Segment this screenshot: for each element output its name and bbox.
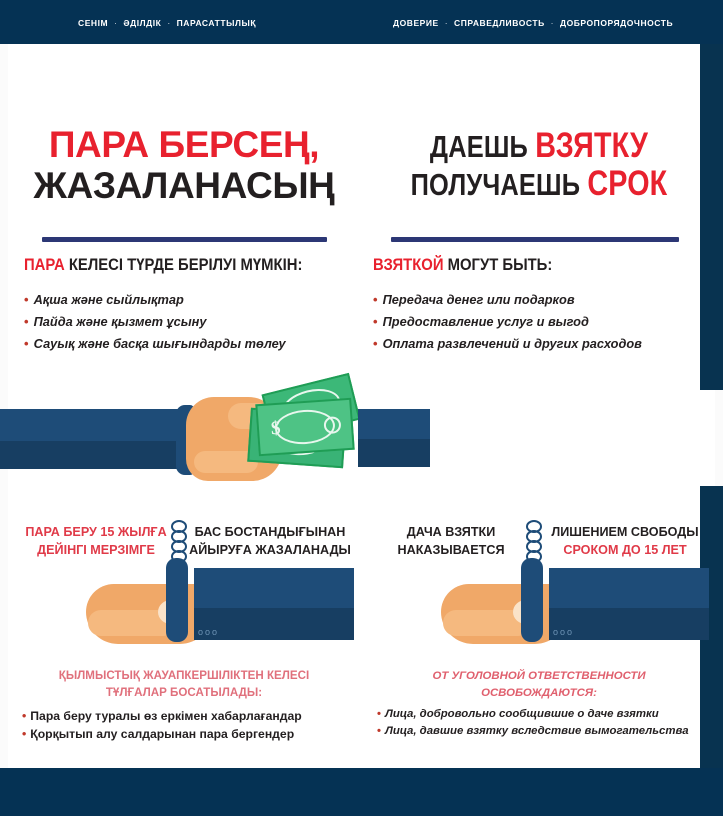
column-kazakh: ПАРА БЕРСЕҢ, ЖАЗАЛАНАСЫҢ ПАРА КЕЛЕСІ ТҮР…: [8, 44, 360, 768]
illustration-hand-giving-money: $: [8, 389, 360, 509]
subhead-kk-accent: ПАРА: [24, 256, 65, 274]
headline-ru-line1-plain: ДАЕШЬ: [430, 129, 535, 164]
divider-rule-russian: [391, 237, 679, 242]
infographic-poster: СЕНІМ · ӘДІЛДІК · ПАРАСАТТЫЛЫҚ ДОВЕРИЕ ·…: [0, 0, 723, 816]
bullet-list-russian: Передача денег или подарков Предоставлен…: [373, 289, 642, 355]
slogan-ru-word-2: СПРАВЕДЛИВОСТЬ: [454, 18, 545, 28]
suit-sleeve-icon: [0, 409, 183, 469]
note-block-kazakh: ҚЫЛМЫСТЫҚ ЖАУАПКЕРШІЛІКТЕН КЕЛЕСІ ТҰЛҒАЛ…: [8, 668, 360, 743]
slogan-kazakh: СЕНІМ · ӘДІЛДІК · ПАРАСАТТЫЛЫҚ: [78, 18, 256, 28]
headline-ru-line2-accent: СРОК: [587, 164, 667, 203]
divider-rule-kazakh: [42, 237, 327, 242]
dollar-sign-icon: $: [270, 418, 281, 441]
note-title-kk-line1: ҚЫЛМЫСТЫҚ ЖАУАПКЕРШІЛІКТЕН КЕЛЕСІ: [26, 668, 342, 685]
list-item: Сауық және басқа шығындарды төлеу: [24, 333, 286, 355]
list-item: Ақша және сыйлықтар: [24, 289, 286, 311]
caption-kk-punishment: БАС БОСТАНДЫҒЫНАН АЙЫРУҒА ЖАЗАЛАНАДЫ: [186, 524, 354, 560]
slogan-kk-word-1: СЕНІМ: [78, 18, 108, 28]
caption-kk-punishment-line1: БАС БОСТАНДЫҒЫНАН: [186, 524, 354, 542]
list-item: Оплата развлечений и других расходов: [373, 333, 642, 355]
list-item: Лица, давшие взятку вследствие вымогател…: [377, 723, 715, 740]
subhead-ru-rest: МОГУТ БЫТЬ:: [443, 256, 552, 274]
slogan-kk-word-3: ПАРАСАТТЫЛЫҚ: [177, 18, 257, 28]
prison-block-icon: ooo: [194, 568, 354, 640]
list-item: Қорқытып алу салдарынан пара бергендер: [22, 725, 360, 743]
bullet-list-kazakh: Ақша және сыйлықтар Пайда және қызмет ұс…: [24, 289, 286, 355]
handcuff-icon: [521, 558, 543, 642]
suit-sleeve-icon: [358, 409, 430, 467]
caption-ru-punishment-line1: ЛИШЕНИЕМ СВОБОДЫ: [541, 524, 709, 542]
slogan-ru-word-3: ДОБРОПОРЯДОЧНОСТЬ: [560, 18, 673, 28]
banknote-icon: $: [255, 398, 354, 457]
caption-kk-penalty-line1: ПАРА БЕРУ 15 ЖЫЛҒА: [20, 524, 172, 542]
headline-kk-line2: ЖАЗАЛАНАСЫҢ: [8, 167, 360, 204]
slogan-separator: ·: [111, 18, 120, 28]
caption-ru-offence-line1: ДАЧА ВЗЯТКИ: [375, 524, 527, 542]
handcuff-icon: [166, 558, 188, 642]
caption-kk-penalty-term: ПАРА БЕРУ 15 ЖЫЛҒА ДЕЙІНГІ МЕРЗІМГЕ: [20, 524, 172, 560]
header-slogans: СЕНІМ · ӘДІЛДІК · ПАРАСАТТЫЛЫҚ ДОВЕРИЕ ·…: [0, 0, 723, 44]
column-russian: ДАЕШЬ ВЗЯТКУ ПОЛУЧАЕШЬ СРОК ВЗЯТКОЙ МОГУ…: [363, 44, 715, 768]
slogan-kk-word-2: ӘДІЛДІК: [123, 18, 161, 28]
note-title-kk-line2: ТҰЛҒАЛАР БОСАТЫЛАДЫ:: [26, 685, 342, 702]
subhead-kazakh: ПАРА КЕЛЕСІ ТҮРДЕ БЕРІЛУІ МҮМКІН:: [24, 256, 333, 275]
headline-kk-line1: ПАРА БЕРСЕҢ,: [8, 126, 360, 163]
headline-ru-line1: ДАЕШЬ ВЗЯТКУ: [395, 128, 684, 163]
bar-dots: ooo: [198, 627, 219, 637]
slogan-russian: ДОВЕРИЕ · СПРАВЕДЛИВОСТЬ · ДОБРОПОРЯДОЧН…: [393, 18, 673, 28]
note-list-russian: Лица, добровольно сообщившие о даче взят…: [363, 706, 715, 740]
note-title-kazakh: ҚЫЛМЫСТЫҚ ЖАУАПКЕРШІЛІКТЕН КЕЛЕСІ ТҰЛҒАЛ…: [8, 668, 360, 702]
subhead-kk-rest: КЕЛЕСІ ТҮРДЕ БЕРІЛУІ МҮМКІН:: [65, 256, 303, 274]
slogan-ru-word-1: ДОВЕРИЕ: [393, 18, 439, 28]
slogan-separator: ·: [548, 18, 557, 28]
chain-icon: [526, 520, 538, 560]
note-title-russian: ОТ УГОЛОВНОЙ ОТВЕТСТВЕННОСТИ ОСВОБОЖДАЮТ…: [363, 668, 715, 701]
list-item: Передача денег или подарков: [373, 289, 642, 311]
prison-block-icon: ooo: [549, 568, 709, 640]
headline-ru-line2: ПОЛУЧАЕШЬ СРОК: [395, 166, 684, 201]
slogan-separator: ·: [164, 18, 173, 28]
list-item: Лица, добровольно сообщившие о даче взят…: [377, 706, 715, 723]
headline-ru-line2-plain: ПОЛУЧАЕШЬ: [411, 167, 588, 202]
footer-bar: [0, 768, 723, 816]
slogan-separator: ·: [442, 18, 451, 28]
illustration-palm-and-cuff-kk: ooo: [8, 556, 360, 662]
bar-dots: ooo: [553, 627, 574, 637]
list-item: Пара беру туралы өз еркімен хабарлағанда…: [22, 707, 360, 725]
note-block-russian: ОТ УГОЛОВНОЙ ОТВЕТСТВЕННОСТИ ОСВОБОЖДАЮТ…: [363, 668, 715, 740]
list-item: Пайда және қызмет ұсыну: [24, 311, 286, 333]
list-item: Предоставление услуг и выгод: [373, 311, 642, 333]
illustration-palm-and-cuff-ru: ooo: [363, 556, 715, 662]
subhead-ru-accent: ВЗЯТКОЙ: [373, 256, 443, 274]
caption-ru-offence: ДАЧА ВЗЯТКИ НАКАЗЫВАЕТСЯ: [375, 524, 527, 560]
headline-ru-line1-accent: ВЗЯТКУ: [535, 126, 648, 165]
chain-icon: [171, 520, 183, 560]
caption-ru-punishment: ЛИШЕНИЕМ СВОБОДЫ СРОКОМ ДО 15 ЛЕТ: [541, 524, 709, 560]
headline-kazakh: ПАРА БЕРСЕҢ, ЖАЗАЛАНАСЫҢ: [8, 126, 360, 204]
headline-russian: ДАЕШЬ ВЗЯТКУ ПОЛУЧАЕШЬ СРОК: [363, 128, 715, 201]
subhead-russian: ВЗЯТКОЙ МОГУТ БЫТЬ:: [373, 256, 572, 275]
note-list-kazakh: Пара беру туралы өз еркімен хабарлағанда…: [8, 707, 360, 744]
